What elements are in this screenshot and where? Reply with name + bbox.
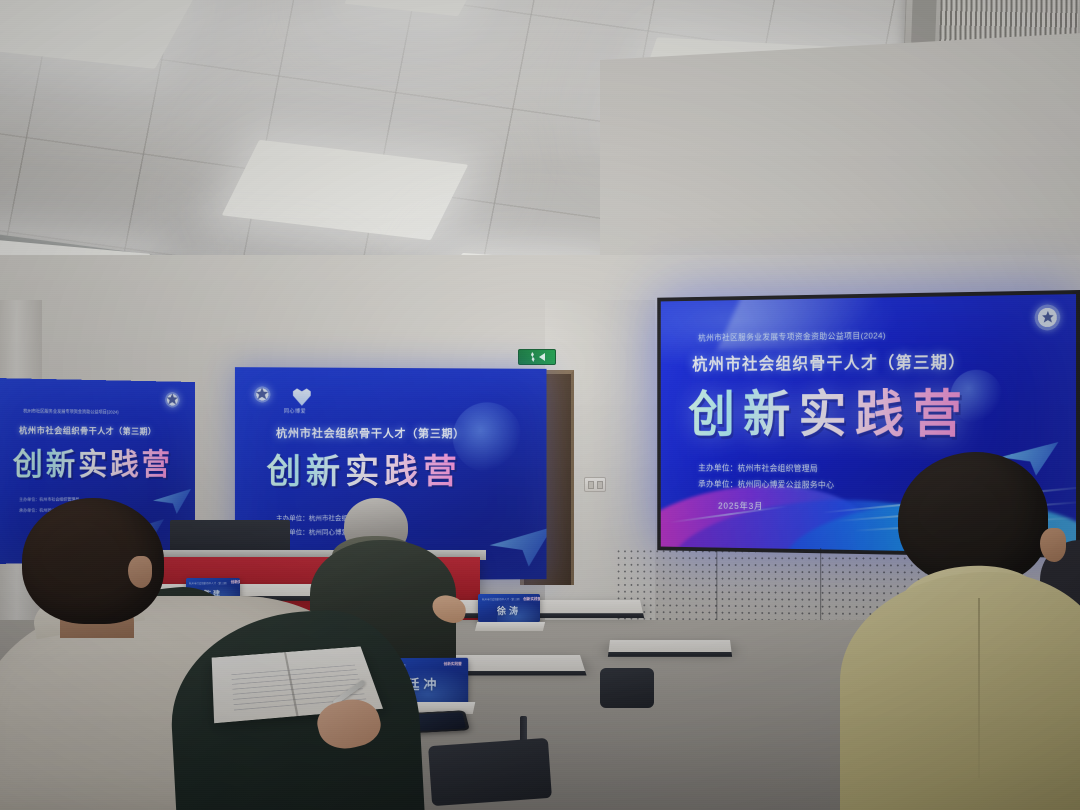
paper-plane-icon: [153, 489, 191, 514]
main-screen-date: 2025年3月: [718, 499, 763, 512]
ac-side-panel: [911, 0, 937, 45]
switch-rocker[interactable]: [588, 481, 594, 489]
center-banner-title: 创新实践营: [267, 444, 462, 493]
exit-sign-icon: [518, 349, 556, 365]
main-screen-title: 创新实践营: [688, 373, 970, 447]
plate-fold: [475, 622, 545, 631]
main-screen-organizer: 承办单位：杭州同心博爱公益服务中心: [698, 478, 834, 491]
organization-seal-icon: [254, 386, 270, 402]
plate-header-right: 创新实践营: [523, 597, 540, 602]
paper-plane-icon: [490, 527, 547, 567]
plate-header: 杭州市社会组织骨干人才（第三期） 创新实践营: [482, 597, 537, 602]
chair-back[interactable]: [600, 668, 654, 708]
organization-seal-icon: [165, 392, 180, 408]
left-banner-title: 创新实践营: [13, 440, 173, 485]
left-banner-subtitle: 杭州市社会组织骨干人才（第三期）: [19, 424, 156, 437]
heart-logo-caption: 同心博爱: [284, 408, 306, 415]
center-banner-subtitle: 杭州市社会组织骨干人才（第三期）: [276, 425, 465, 441]
plate-header: 杭州市社会组织骨干人才（第三期） 创新实践营: [189, 580, 237, 585]
arrow-icon: [539, 353, 545, 361]
running-man-icon: [529, 352, 536, 362]
conference-room-photo: 杭州市社区服务业发展专项资金资助公益项目(2024) 杭州市社会组织骨干人才（第…: [0, 0, 1080, 810]
left-banner-kicker: 杭州市社区服务业发展专项资金资助公益项目(2024): [23, 408, 118, 415]
chair-back[interactable]: [428, 738, 552, 806]
main-screen-kicker: 杭州市社区服务业发展专项资金资助公益项目(2024): [698, 329, 886, 343]
plate-header-right: 创新实践营: [231, 580, 240, 585]
attendee-table: [608, 640, 731, 653]
plate-header-left: 杭州市社会组织骨干人才（第三期）: [189, 581, 228, 585]
coat-seam: [978, 598, 980, 778]
light-switch[interactable]: [584, 477, 606, 492]
main-screen-host: 主办单位：杭州市社会组织管理局: [698, 462, 818, 474]
plate-header-left: 杭州市社会组织骨干人才（第三期）: [482, 597, 521, 601]
heart-logo-icon: [292, 388, 312, 406]
attendee-left-ear: [128, 556, 152, 588]
attendee-right-ear: [1040, 528, 1066, 562]
switch-rocker[interactable]: [597, 481, 603, 489]
plate-name-text: 徐涛: [497, 604, 521, 617]
table-edge: [608, 652, 732, 657]
plate-header-right: 创新实践营: [444, 662, 462, 667]
attendee-right-head: [898, 452, 1048, 584]
name-plate: 杭州市社会组织骨干人才（第三期） 创新实践营 徐涛: [478, 594, 540, 622]
main-screen-subtitle: 杭州市社会组织骨干人才（第三期）: [692, 348, 966, 375]
